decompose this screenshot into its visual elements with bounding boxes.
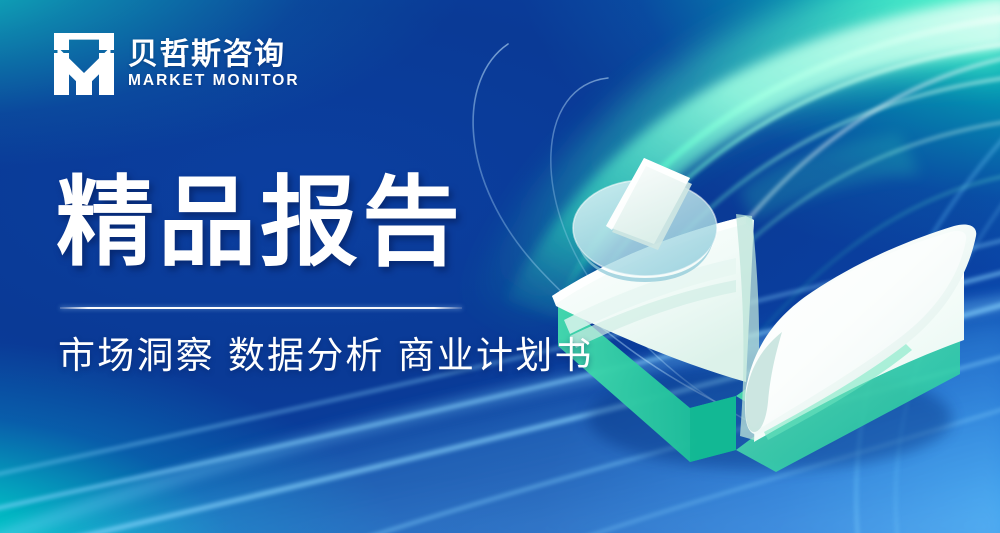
m-monogram-logo-icon xyxy=(54,33,114,95)
brand-logo[interactable]: 贝哲斯咨询 MARKET MONITOR xyxy=(54,33,300,95)
title-divider xyxy=(60,307,462,309)
subtitle-part-1: 市场洞察 xyxy=(58,335,215,376)
page-title: 精品报告 xyxy=(56,171,464,275)
page-subtitle: 市场洞察数据分析商业计划书 xyxy=(58,333,594,379)
report-banner: 贝哲斯咨询 MARKET MONITOR 精品报告 市场洞察数据分析商业计划书 xyxy=(0,0,1000,533)
company-name-en: MARKET MONITOR xyxy=(128,73,300,89)
brand-logo-text: 贝哲斯咨询 MARKET MONITOR xyxy=(128,39,300,90)
subtitle-part-2: 数据分析 xyxy=(228,335,385,376)
open-book-illustration xyxy=(540,150,1000,490)
company-name-cn: 贝哲斯咨询 xyxy=(128,39,300,71)
subtitle-part-3: 商业计划书 xyxy=(398,335,594,376)
